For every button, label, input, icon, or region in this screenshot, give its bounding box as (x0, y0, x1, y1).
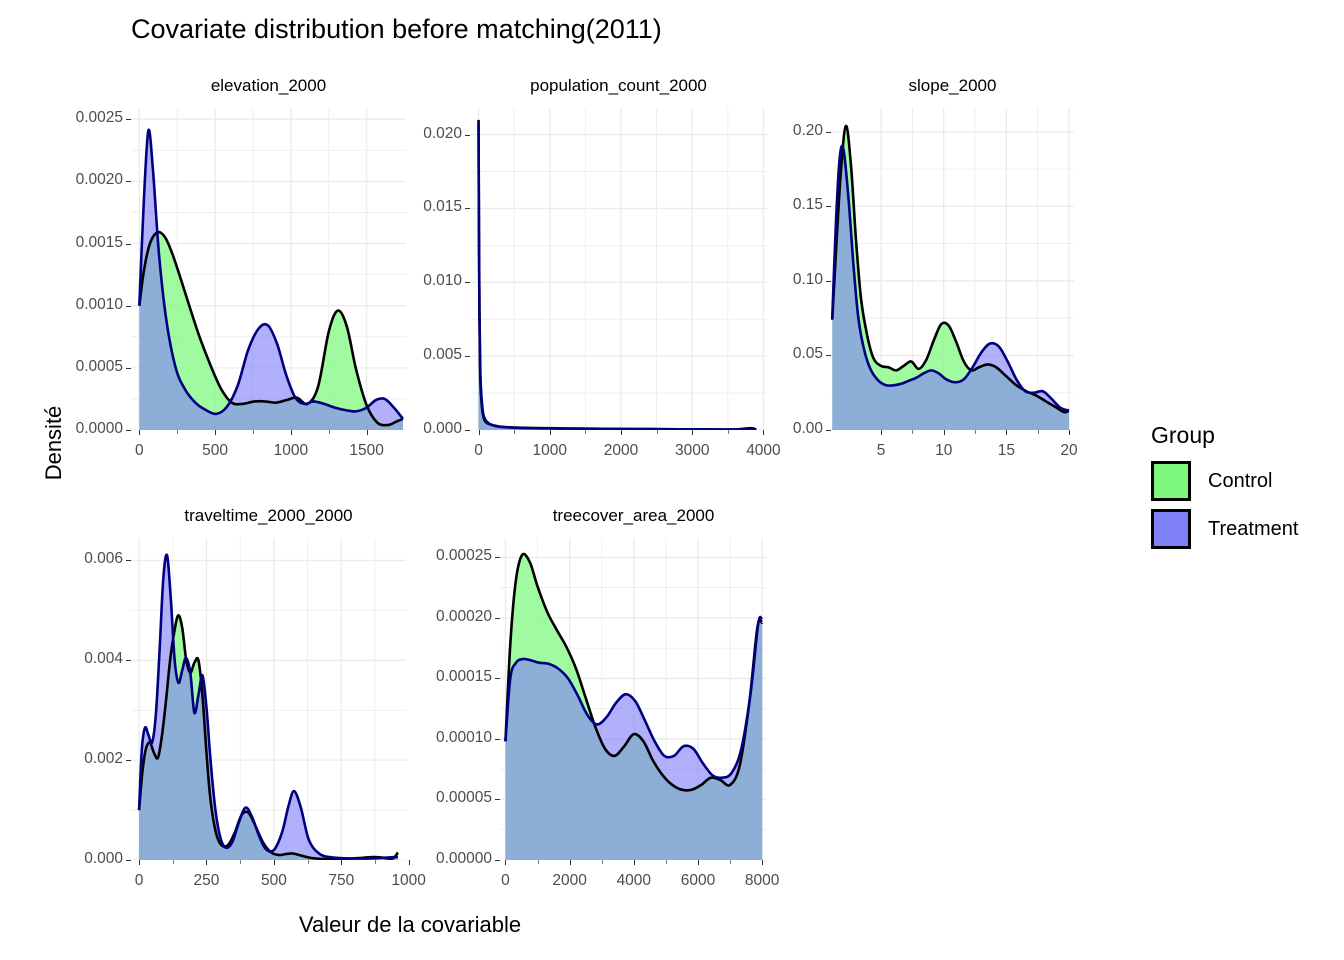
x-tick-mark (505, 860, 506, 865)
x-tick-mark (479, 430, 480, 435)
panel-traveltime-2000-2000 (131, 538, 406, 860)
x-tick-mark (762, 860, 763, 865)
x-minor-tick-mark (585, 430, 586, 434)
x-tick-mark (881, 430, 882, 435)
y-tick-mark (465, 282, 470, 283)
chart-root: Covariate distribution before matching(2… (0, 0, 1344, 960)
legend: Group ControlTreatment (1151, 422, 1298, 557)
y-tick-mark (826, 132, 831, 133)
panel-treecover-area-2000 (500, 538, 767, 860)
x-tick-label: 8000 (702, 872, 822, 890)
x-minor-tick-mark (912, 430, 913, 434)
y-tick-mark (495, 799, 500, 800)
legend-title: Group (1151, 422, 1298, 449)
facet-strip-traveltime-2000-2000: traveltime_2000_2000 (131, 506, 406, 526)
x-tick-mark (1069, 430, 1070, 435)
x-minor-tick-mark (730, 860, 731, 864)
y-tick-label: 0.006 (23, 550, 123, 568)
x-tick-mark (215, 430, 216, 435)
y-tick-mark (495, 860, 500, 861)
y-tick-mark (126, 560, 131, 561)
y-tick-mark (465, 208, 470, 209)
y-tick-label: 0.004 (23, 650, 123, 668)
x-minor-tick-mark (240, 860, 241, 864)
facet-strip-population-count-2000: population_count_2000 (470, 76, 767, 96)
y-tick-label: 0.005 (362, 346, 462, 364)
x-tick-mark (291, 430, 292, 435)
y-tick-mark (126, 368, 131, 369)
y-tick-label: 0.002 (23, 750, 123, 768)
y-tick-label: 0.0020 (23, 171, 123, 189)
y-tick-mark (465, 356, 470, 357)
y-tick-mark (826, 206, 831, 207)
x-minor-tick-mark (173, 860, 174, 864)
y-tick-label: 0.000 (23, 850, 123, 868)
y-tick-label: 0.015 (362, 198, 462, 216)
legend-label: Treatment (1208, 518, 1298, 541)
y-tick-label: 0.0000 (23, 420, 123, 438)
legend-item-treatment[interactable]: Treatment (1151, 509, 1298, 549)
density-plot (131, 108, 406, 430)
x-minor-tick-mark (329, 430, 330, 434)
facet-strip-treecover-area-2000: treecover_area_2000 (500, 506, 767, 526)
x-minor-tick-mark (666, 860, 667, 864)
y-tick-label: 0.0005 (23, 358, 123, 376)
x-minor-tick-mark (975, 430, 976, 434)
y-tick-mark (126, 306, 131, 307)
density-plot (131, 538, 406, 860)
x-tick-mark (550, 430, 551, 435)
x-minor-tick-mark (657, 430, 658, 434)
y-tick-mark (826, 281, 831, 282)
x-tick-mark (621, 430, 622, 435)
x-minor-tick-mark (177, 430, 178, 434)
page-title: Covariate distribution before matching(2… (131, 14, 662, 45)
y-tick-mark (465, 135, 470, 136)
y-tick-label: 0.00010 (392, 729, 492, 747)
x-tick-mark (206, 860, 207, 865)
y-tick-mark (495, 557, 500, 558)
x-tick-mark (274, 860, 275, 865)
legend-label: Control (1208, 470, 1272, 493)
x-minor-tick-mark (538, 860, 539, 864)
y-tick-mark (126, 660, 131, 661)
y-tick-label: 0.05 (723, 345, 823, 363)
x-tick-mark (1006, 430, 1007, 435)
y-tick-label: 0.0015 (23, 234, 123, 252)
density-plot (831, 108, 1074, 430)
y-tick-label: 0.000 (362, 420, 462, 438)
x-minor-tick-mark (602, 860, 603, 864)
y-tick-mark (495, 618, 500, 619)
y-axis-title: Densité (41, 383, 67, 503)
y-tick-label: 0.00015 (392, 668, 492, 686)
x-tick-mark (139, 430, 140, 435)
y-tick-mark (495, 678, 500, 679)
x-tick-mark (139, 860, 140, 865)
y-tick-mark (465, 430, 470, 431)
density-plot (500, 538, 767, 860)
x-tick-label: 1500 (307, 442, 427, 460)
x-tick-mark (698, 860, 699, 865)
facet-strip-slope-2000: slope_2000 (831, 76, 1074, 96)
y-tick-label: 0.00000 (392, 850, 492, 868)
x-minor-tick-mark (253, 430, 254, 434)
y-tick-mark (126, 181, 131, 182)
x-tick-label: 20 (1009, 442, 1129, 460)
x-tick-mark (692, 430, 693, 435)
panel-elevation-2000 (131, 108, 406, 430)
x-minor-tick-mark (375, 860, 376, 864)
y-tick-label: 0.010 (362, 272, 462, 290)
legend-item-control[interactable]: Control (1151, 461, 1298, 501)
y-tick-label: 0.0025 (23, 109, 123, 127)
x-minor-tick-mark (1038, 430, 1039, 434)
y-tick-label: 0.10 (723, 271, 823, 289)
x-minor-tick-mark (308, 860, 309, 864)
y-tick-label: 0.00 (723, 420, 823, 438)
y-tick-label: 0.20 (723, 122, 823, 140)
y-tick-mark (126, 119, 131, 120)
y-tick-mark (126, 760, 131, 761)
y-tick-label: 0.15 (723, 196, 823, 214)
x-tick-mark (570, 860, 571, 865)
x-tick-label: 4000 (703, 442, 823, 460)
x-tick-mark (341, 860, 342, 865)
legend-swatch-control (1151, 461, 1191, 501)
x-minor-tick-mark (514, 430, 515, 434)
y-tick-mark (495, 739, 500, 740)
y-tick-mark (126, 860, 131, 861)
panel-population-count-2000 (470, 108, 767, 430)
y-tick-label: 0.00025 (392, 547, 492, 565)
y-tick-label: 0.020 (362, 125, 462, 143)
y-tick-mark (126, 430, 131, 431)
legend-swatch-treatment (1151, 509, 1191, 549)
y-tick-label: 0.00005 (392, 789, 492, 807)
x-tick-mark (944, 430, 945, 435)
y-tick-mark (826, 355, 831, 356)
x-axis-title: Valeur de la covariable (0, 912, 820, 938)
y-tick-mark (826, 430, 831, 431)
y-tick-label: 0.00020 (392, 608, 492, 626)
x-tick-mark (634, 860, 635, 865)
density-plot (470, 108, 767, 430)
y-tick-label: 0.0010 (23, 296, 123, 314)
facet-strip-elevation-2000: elevation_2000 (131, 76, 406, 96)
panel-slope-2000 (831, 108, 1074, 430)
y-tick-mark (126, 244, 131, 245)
